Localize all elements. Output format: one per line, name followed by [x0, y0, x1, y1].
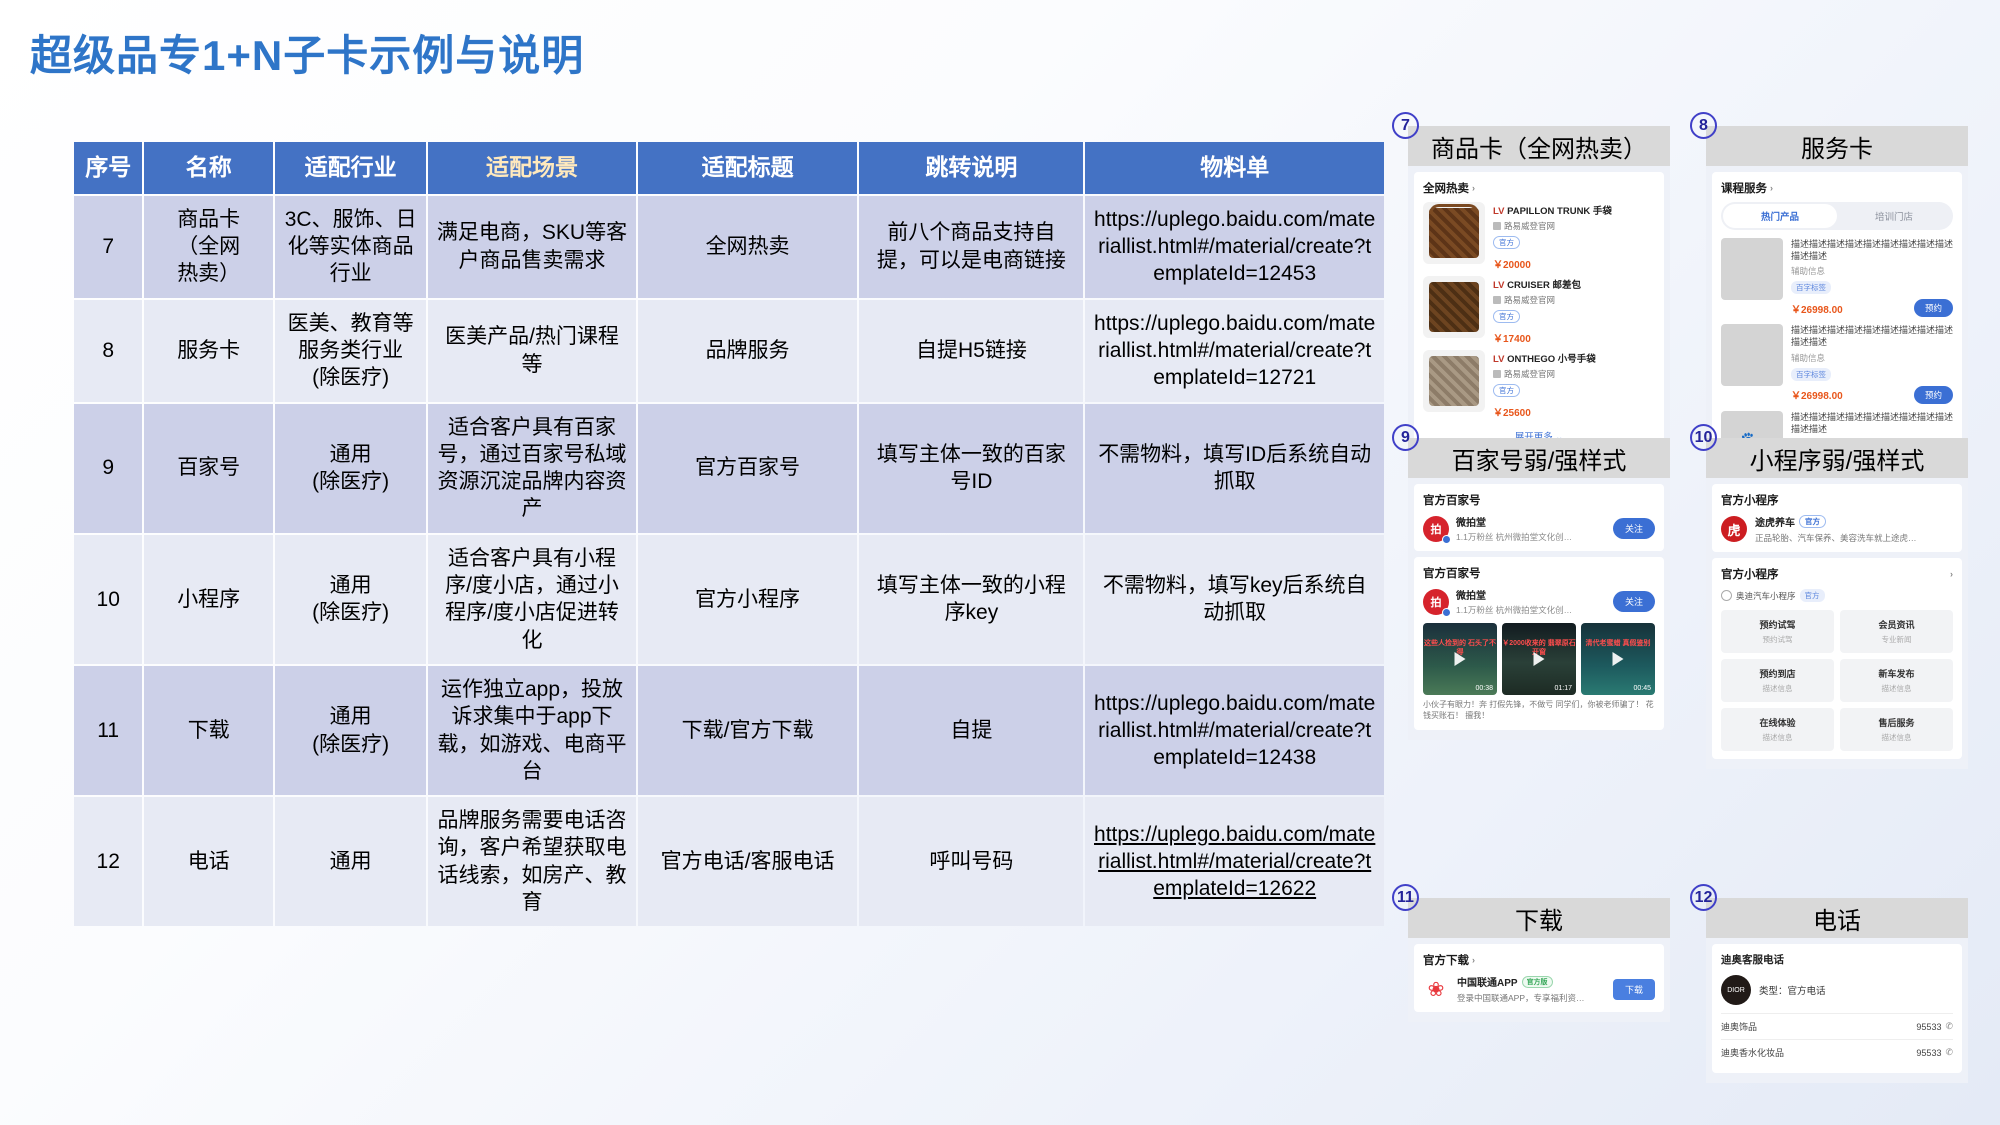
- book-button[interactable]: 预约: [1914, 386, 1953, 404]
- play-icon: [1613, 652, 1624, 666]
- card12-badge: 12: [1690, 884, 1717, 911]
- service-thumbnail: [1721, 324, 1783, 386]
- table-header: 序号 名称 适配行业 适配场景 适配标题 跳转说明 物料单: [74, 142, 1384, 194]
- phone-entry-row[interactable]: 迪奥饰品 95533✆: [1721, 1013, 1953, 1039]
- grid-cell[interactable]: 预约到店描述信息: [1721, 659, 1834, 702]
- row-scene: 运作独立app，投放诉求集中于app下载，如游戏、电商平台: [428, 666, 635, 795]
- card7-body: 全网热卖 › LV PAPILLON TRUNK 手袋 路易威登官网 官方 ￥2…: [1414, 172, 1664, 452]
- product-price: ￥17400: [1493, 330, 1655, 345]
- col-header-name: 名称: [144, 142, 273, 194]
- service-price: ￥26998.00: [1791, 301, 1843, 316]
- row-title: 官方百家号: [638, 404, 858, 533]
- card8-badge: 8: [1690, 112, 1717, 139]
- row-scene: 满足电商，SKU等客户商品售卖需求: [428, 196, 635, 298]
- video-duration: 00:38: [1475, 685, 1493, 692]
- row-industry: 通用 (除医疗): [275, 666, 426, 795]
- card9-header: 9 百家号弱/强样式: [1408, 438, 1670, 478]
- official-badge: 官方: [1493, 236, 1520, 249]
- miniprogram-grid: 预约试驾预约试驾 会员资讯专业新闻 预约到店描述信息 新车发布描述信息 在线体验…: [1721, 610, 1953, 751]
- product-shop: 路易威登官网: [1493, 220, 1655, 232]
- row-industry: 通用: [275, 797, 426, 926]
- row-title: 官方小程序: [638, 535, 858, 664]
- table-header-row: 序号 名称 适配行业 适配场景 适配标题 跳转说明 物料单: [74, 142, 1384, 194]
- row-index: 9: [74, 404, 142, 533]
- row-scene: 品牌服务需要电话咨询，客户希望获取电话线索，如房产、教育: [428, 797, 635, 926]
- row-title: 品牌服务: [638, 300, 858, 402]
- product-price: ￥25600: [1493, 404, 1655, 419]
- service-thumbnail: [1721, 238, 1783, 300]
- chevron-right-icon: ›: [1472, 183, 1475, 193]
- phone-entry-label: 迪奥饰品: [1721, 1020, 1757, 1033]
- service-desc: 描述描述描述描述描述描述描述描述描述描述描述: [1791, 324, 1953, 348]
- row-material[interactable]: https://uplego.baidu.com/materiallist.ht…: [1085, 300, 1384, 402]
- card7-badge: 7: [1392, 112, 1419, 139]
- product-thumbnail: [1423, 276, 1485, 338]
- video-thumbnail[interactable]: 这些人捡到的 石头了不得 00:38: [1423, 623, 1497, 695]
- card8-header: 8 服务卡: [1706, 126, 1968, 166]
- table-row: 9百家号通用 (除医疗)适合客户具有百家号，通过百家号私域资源沉淀品牌内容资产官…: [74, 404, 1384, 533]
- miniprogram-entry-name: 奥迪汽车小程序: [1736, 590, 1796, 602]
- card12-section-title: 迪奥客服电话: [1721, 952, 1953, 967]
- row-index: 11: [74, 666, 142, 795]
- row-industry: 通用 (除医疗): [275, 404, 426, 533]
- col-header-industry: 适配行业: [275, 142, 426, 194]
- row-industry: 医美、教育等服务类行业 (除医疗): [275, 300, 426, 402]
- video-duration: 01:17: [1554, 685, 1572, 692]
- phone-entry-row[interactable]: 迪奥香水化妆品 95533✆: [1721, 1039, 1953, 1065]
- card12-header: 12 电话: [1706, 898, 1968, 938]
- product-row[interactable]: LV CRUISER 邮差包 路易威登官网 官方 ￥17400: [1423, 276, 1655, 345]
- card9-strong-section-title: 官方百家号: [1423, 565, 1655, 581]
- miniprogram-icon: [1721, 590, 1732, 601]
- preview-card-download: 11 下载 官方下载 › ❀ 中国联通APP 官方版 登录中国联通APP，专享福…: [1408, 898, 1670, 1022]
- phone-type-row: DIOR 类型：官方电话: [1721, 975, 1953, 1005]
- baijiahao-account-row[interactable]: 拍 微拍堂 1.1万粉丝 杭州微拍堂文化创… 关注: [1423, 514, 1655, 543]
- grid-cell-title: 在线体验: [1721, 716, 1834, 729]
- chevron-right-icon: ›: [1950, 569, 1953, 579]
- row-material[interactable]: https://uplego.baidu.com/materiallist.ht…: [1085, 666, 1384, 795]
- service-sub: 辅助信息: [1791, 352, 1953, 364]
- row-scene: 适合客户具有百家号，通过百家号私域资源沉淀品牌内容资产: [428, 404, 635, 533]
- chevron-right-icon: ›: [1770, 183, 1773, 193]
- phone-entry-number: 95533✆: [1916, 1047, 1953, 1058]
- phone-entry-label: 迪奥香水化妆品: [1721, 1046, 1784, 1059]
- service-tag: 百字标签: [1791, 368, 1831, 381]
- row-material[interactable]: https://uplego.baidu.com/materiallist.ht…: [1085, 797, 1384, 926]
- row-jump: 呼叫号码: [859, 797, 1083, 926]
- card9-strong-style: 官方百家号 拍 微拍堂 1.1万粉丝 杭州微拍堂文化创… 关注 这些人捡到的 石…: [1414, 557, 1664, 730]
- grid-cell-title: 售后服务: [1840, 716, 1953, 729]
- col-header-scene: 适配场景: [428, 142, 635, 194]
- miniprogram-name: 途虎养车 官方: [1755, 514, 1953, 529]
- card11-section-label: 官方下载: [1423, 952, 1469, 968]
- product-row[interactable]: LV PAPILLON TRUNK 手袋 路易威登官网 官方 ￥20000: [1423, 202, 1655, 271]
- row-jump: 填写主体一致的百家号ID: [859, 404, 1083, 533]
- table-row: 12电话通用品牌服务需要电话咨询，客户希望获取电话线索，如房产、教育官方电话/客…: [74, 797, 1384, 926]
- table-body: 7商品卡 （全网 热卖）3C、服饰、日化等实体商品行业满足电商，SKU等客户商品…: [74, 196, 1384, 927]
- official-badge: 官方: [1799, 515, 1826, 528]
- product-title: LV PAPILLON TRUNK 手袋: [1493, 203, 1655, 217]
- product-title: LV CRUISER 邮差包: [1493, 277, 1655, 291]
- row-index: 7: [74, 196, 142, 298]
- card7-title: 商品卡（全网热卖）: [1431, 129, 1647, 164]
- product-price: ￥20000: [1493, 256, 1655, 271]
- card10-strong-style: 官方小程序 › 奥迪汽车小程序 官方 预约试驾预约试驾 会员资讯专业新闻 预约到…: [1712, 558, 1962, 759]
- product-shop: 路易威登官网: [1493, 294, 1655, 306]
- table-row: 7商品卡 （全网 热卖）3C、服饰、日化等实体商品行业满足电商，SKU等客户商品…: [74, 196, 1384, 298]
- phone-entry-number: 95533✆: [1916, 1021, 1953, 1032]
- account-name: 微拍堂: [1456, 587, 1606, 602]
- card12-body: 迪奥客服电话 DIOR 类型：官方电话 迪奥饰品 95533✆ 迪奥香水化妆品 …: [1712, 944, 1962, 1073]
- official-version-badge: 官方版: [1522, 976, 1553, 988]
- card10-title: 小程序弱/强样式: [1750, 441, 1925, 476]
- play-icon: [1455, 652, 1466, 666]
- row-scene: 适合客户具有小程序/度小店，通过小程序/度小店促进转化: [428, 535, 635, 664]
- chevron-right-icon: ›: [1472, 955, 1475, 965]
- card11-title: 下载: [1515, 901, 1563, 936]
- spec-table-container: 序号 名称 适配行业 适配场景 适配标题 跳转说明 物料单 7商品卡 （全网 热…: [72, 140, 1386, 928]
- row-index: 12: [74, 797, 142, 926]
- follow-button[interactable]: 关注: [1613, 591, 1655, 612]
- table-row: 8服务卡医美、教育等服务类行业 (除医疗)医美产品/热门课程等品牌服务自提H5链…: [74, 300, 1384, 402]
- grid-cell-sub: 预约试驾: [1721, 634, 1834, 645]
- grid-cell[interactable]: 会员资讯专业新闻: [1840, 610, 1953, 653]
- row-industry: 3C、服饰、日化等实体商品行业: [275, 196, 426, 298]
- preview-card-baijiahao: 9 百家号弱/强样式 官方百家号 拍 微拍堂 1.1万粉丝 杭州微拍堂文化创… …: [1408, 438, 1670, 740]
- follow-button[interactable]: 关注: [1613, 518, 1655, 539]
- col-header-jump: 跳转说明: [859, 142, 1083, 194]
- col-header-index: 序号: [74, 142, 142, 194]
- grid-cell-title: 会员资讯: [1840, 618, 1953, 631]
- card9-phone-mock: 官方百家号 拍 微拍堂 1.1万粉丝 杭州微拍堂文化创… 关注 官方百家号 拍 …: [1408, 478, 1670, 740]
- grid-cell[interactable]: 预约试驾预约试驾: [1721, 610, 1834, 653]
- card9-title: 百家号弱/强样式: [1452, 441, 1627, 476]
- card8-tabs: 热门产品 培训门店: [1721, 202, 1953, 230]
- preview-panel: 7 商品卡（全网热卖） 全网热卖 › LV PAPILLON TRUNK 手袋 …: [1408, 126, 1968, 1116]
- card7-header: 7 商品卡（全网热卖）: [1408, 126, 1670, 166]
- service-price: ￥26998.00: [1791, 387, 1843, 402]
- card10-header: 10 小程序弱/强样式: [1706, 438, 1968, 478]
- app-name: 中国联通APP 官方版: [1457, 974, 1605, 989]
- row-jump: 填写主体一致的小程序key: [859, 535, 1083, 664]
- miniprogram-entry[interactable]: 奥迪汽车小程序 官方: [1721, 589, 1953, 602]
- video-duration: 00:45: [1633, 685, 1651, 692]
- service-sub: 辅助信息: [1791, 265, 1953, 277]
- service-desc: 描述描述描述描述描述描述描述描述描述描述描述: [1791, 411, 1953, 435]
- card7-phone-mock: 全网热卖 › LV PAPILLON TRUNK 手袋 路易威登官网 官方 ￥2…: [1408, 166, 1670, 462]
- card12-phone-mock: 迪奥客服电话 DIOR 类型：官方电话 迪奥饰品 95533✆ 迪奥香水化妆品 …: [1706, 938, 1968, 1083]
- card11-badge: 11: [1392, 884, 1419, 911]
- col-header-material: 物料单: [1085, 142, 1384, 194]
- card8-title: 服务卡: [1801, 129, 1873, 164]
- official-badge: 官方: [1493, 310, 1520, 323]
- account-meta: 1.1万粉丝 杭州微拍堂文化创…: [1456, 531, 1606, 543]
- grid-cell-sub: 描述信息: [1840, 732, 1953, 743]
- download-button[interactable]: 下载: [1613, 979, 1655, 1000]
- card7-section-label: 全网热卖: [1423, 180, 1469, 196]
- card10-phone-mock: 官方小程序 虎 途虎养车 官方 正品轮胎、汽车保养、美容洗车就上途虎… 官方小程…: [1706, 478, 1968, 769]
- grid-cell-sub: 描述信息: [1721, 683, 1834, 694]
- shop-icon: [1493, 370, 1501, 378]
- row-name: 小程序: [144, 535, 273, 664]
- tab-hot-products[interactable]: 热门产品: [1723, 204, 1837, 228]
- row-title: 全网热卖: [638, 196, 858, 298]
- avatar: 拍: [1423, 589, 1449, 615]
- card7-product-list: LV PAPILLON TRUNK 手袋 路易威登官网 官方 ￥20000 LV…: [1423, 202, 1655, 419]
- miniprogram-desc: 正品轮胎、汽车保养、美容洗车就上途虎…: [1755, 532, 1953, 544]
- video-thumbnail-list: 这些人捡到的 石头了不得 00:38 ￥2000收来的 翡翠原石开窗 01:17…: [1423, 623, 1655, 695]
- spec-table: 序号 名称 适配行业 适配场景 适配标题 跳转说明 物料单 7商品卡 （全网 热…: [72, 140, 1386, 928]
- service-tag: 百字标签: [1791, 281, 1831, 294]
- table-row: 11下载通用 (除医疗)运作独立app，投放诉求集中于app下载，如游戏、电商平…: [74, 666, 1384, 795]
- grid-cell[interactable]: 新车发布描述信息: [1840, 659, 1953, 702]
- row-jump: 自提H5链接: [859, 300, 1083, 402]
- grid-cell-sub: 专业新闻: [1840, 634, 1953, 645]
- service-desc: 描述描述描述描述描述描述描述描述描述描述描述: [1791, 238, 1953, 262]
- app-desc: 登录中国联通APP，专享福利资…: [1457, 992, 1605, 1004]
- product-title: LV ONTHEGO 小号手袋: [1493, 351, 1655, 365]
- product-thumbnail: [1423, 350, 1485, 412]
- card10-strong-section-title: 官方小程序 ›: [1721, 566, 1953, 582]
- row-name: 服务卡: [144, 300, 273, 402]
- account-name: 微拍堂: [1456, 514, 1606, 529]
- miniprogram-row[interactable]: 虎 途虎养车 官方 正品轮胎、汽车保养、美容洗车就上途虎…: [1721, 514, 1953, 544]
- row-jump: 自提: [859, 666, 1083, 795]
- page-title: 超级品专1+N子卡示例与说明: [30, 22, 584, 83]
- verified-icon: [1442, 535, 1451, 544]
- grid-cell-sub: 描述信息: [1840, 683, 1953, 694]
- card12-title: 电话: [1813, 901, 1861, 936]
- grid-cell[interactable]: 售后服务描述信息: [1840, 708, 1953, 751]
- row-industry: 通用 (除医疗): [275, 535, 426, 664]
- card9-weak-section-title: 官方百家号: [1423, 492, 1655, 508]
- row-scene: 医美产品/热门课程等: [428, 300, 635, 402]
- verified-icon: [1442, 608, 1451, 617]
- baijiahao-account-row[interactable]: 拍 微拍堂 1.1万粉丝 杭州微拍堂文化创… 关注: [1423, 587, 1655, 616]
- row-name: 电话: [144, 797, 273, 926]
- app-icon: ❀: [1423, 976, 1449, 1002]
- preview-card-product: 7 商品卡（全网热卖） 全网热卖 › LV PAPILLON TRUNK 手袋 …: [1408, 126, 1670, 462]
- grid-cell[interactable]: 在线体验描述信息: [1721, 708, 1834, 751]
- card7-section-title: 全网热卖 ›: [1423, 180, 1655, 196]
- phone-icon: ✆: [1945, 1021, 1953, 1032]
- official-badge: 官方: [1493, 384, 1520, 397]
- row-material[interactable]: 不需物料，填写key后系统自动抓取: [1085, 535, 1384, 664]
- col-header-title: 适配标题: [638, 142, 858, 194]
- card11-body: 官方下载 › ❀ 中国联通APP 官方版 登录中国联通APP，专享福利资… 下载: [1414, 944, 1664, 1012]
- card10-strong-label: 官方小程序: [1721, 566, 1779, 582]
- shop-icon: [1493, 296, 1501, 304]
- avatar: 虎: [1721, 516, 1747, 542]
- official-badge: 官方: [1800, 589, 1825, 602]
- row-jump: 前八个商品支持自提，可以是电商链接: [859, 196, 1083, 298]
- grid-cell-sub: 描述信息: [1721, 732, 1834, 743]
- product-row[interactable]: LV ONTHEGO 小号手袋 路易威登官网 官方 ￥25600: [1423, 350, 1655, 419]
- product-thumbnail: [1423, 202, 1485, 264]
- product-shop: 路易威登官网: [1493, 368, 1655, 380]
- video-caption: 小伙子有眼力！奔 打假先锋，不做亏 同学们，你被老师骗了！ 花钱买账石！ 擅我！: [1423, 700, 1655, 722]
- grid-cell-title: 预约到店: [1721, 667, 1834, 680]
- avatar: 拍: [1423, 516, 1449, 542]
- card10-weak-style: 官方小程序 虎 途虎养车 官方 正品轮胎、汽车保养、美容洗车就上途虎…: [1712, 484, 1962, 552]
- video-thumbnail[interactable]: 清代老蜜蜡 真假鉴别 00:45: [1581, 623, 1655, 695]
- service-row[interactable]: 描述描述描述描述描述描述描述描述描述描述描述 辅助信息 百字标签 ￥26998.…: [1721, 324, 1953, 403]
- phone-icon: ✆: [1945, 1047, 1953, 1058]
- service-row[interactable]: 描述描述描述描述描述描述描述描述描述描述描述 辅助信息 百字标签 ￥26998.…: [1721, 238, 1953, 317]
- phone-type-label: 类型：官方电话: [1759, 983, 1826, 997]
- row-name: 百家号: [144, 404, 273, 533]
- row-name: 商品卡 （全网 热卖）: [144, 196, 273, 298]
- download-row[interactable]: ❀ 中国联通APP 官方版 登录中国联通APP，专享福利资… 下载: [1423, 974, 1655, 1004]
- book-button[interactable]: 预约: [1914, 299, 1953, 317]
- row-index: 10: [74, 535, 142, 664]
- tab-training-stores[interactable]: 培训门店: [1837, 204, 1951, 228]
- row-material[interactable]: https://uplego.baidu.com/materiallist.ht…: [1085, 196, 1384, 298]
- account-meta: 1.1万粉丝 杭州微拍堂文化创…: [1456, 604, 1606, 616]
- grid-cell-title: 预约试驾: [1721, 618, 1834, 631]
- card10-weak-section-title: 官方小程序: [1721, 492, 1953, 508]
- card11-section-title: 官方下载 ›: [1423, 952, 1655, 968]
- video-thumbnail[interactable]: ￥2000收来的 翡翠原石开窗 01:17: [1502, 623, 1576, 695]
- play-icon: [1534, 652, 1545, 666]
- card8-section-label: 课程服务: [1721, 180, 1767, 196]
- card9-weak-style: 官方百家号 拍 微拍堂 1.1万粉丝 杭州微拍堂文化创… 关注: [1414, 484, 1664, 551]
- card11-phone-mock: 官方下载 › ❀ 中国联通APP 官方版 登录中国联通APP，专享福利资… 下载: [1408, 938, 1670, 1022]
- avatar: DIOR: [1721, 975, 1751, 1005]
- card9-badge: 9: [1392, 424, 1419, 451]
- grid-cell-title: 新车发布: [1840, 667, 1953, 680]
- card11-header: 11 下载: [1408, 898, 1670, 938]
- card8-section-title: 课程服务 ›: [1721, 180, 1953, 196]
- preview-card-miniprogram: 10 小程序弱/强样式 官方小程序 虎 途虎养车 官方 正品轮胎、汽车保养、美容…: [1706, 438, 1968, 769]
- card10-badge: 10: [1690, 424, 1717, 451]
- preview-card-phone: 12 电话 迪奥客服电话 DIOR 类型：官方电话 迪奥饰品 95533✆ 迪奥…: [1706, 898, 1968, 1083]
- row-title: 官方电话/客服电话: [638, 797, 858, 926]
- row-title: 下载/官方下载: [638, 666, 858, 795]
- row-name: 下载: [144, 666, 273, 795]
- video-overlay-text: 清代老蜜蜡 真假鉴别: [1581, 639, 1655, 648]
- table-row: 10小程序通用 (除医疗)适合客户具有小程序/度小店，通过小程序/度小店促进转化…: [74, 535, 1384, 664]
- row-index: 8: [74, 300, 142, 402]
- shop-icon: [1493, 222, 1501, 230]
- row-material[interactable]: 不需物料，填写ID后系统自动抓取: [1085, 404, 1384, 533]
